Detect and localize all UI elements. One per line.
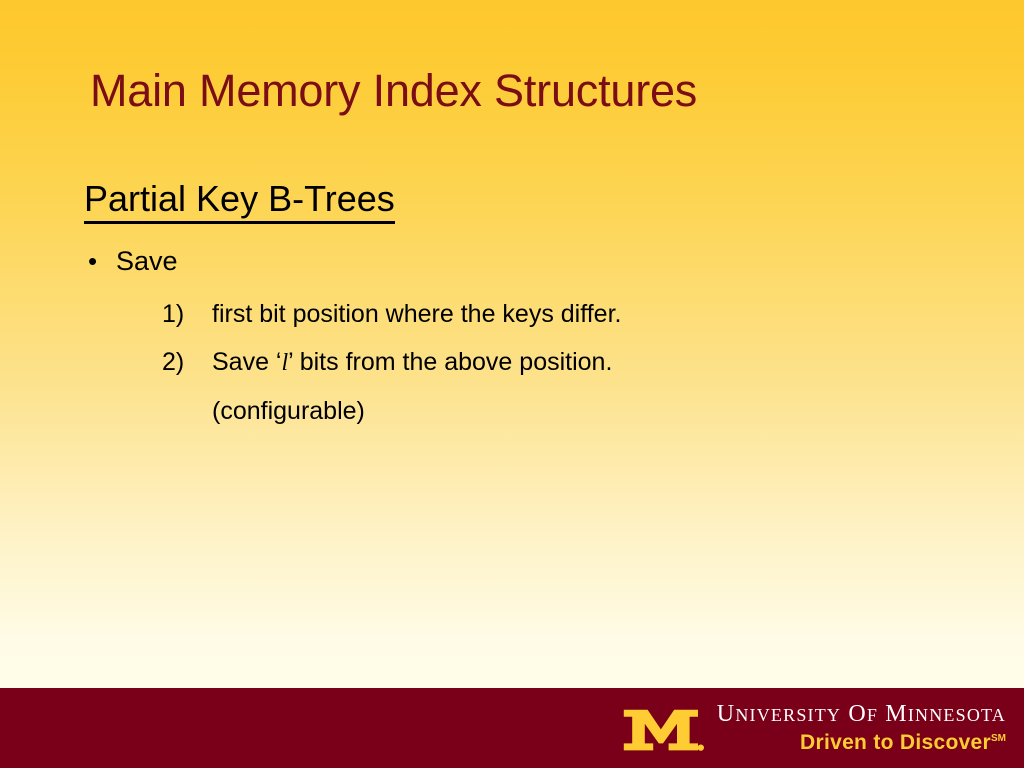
block-m-icon [621, 700, 705, 756]
university-of-text: O [848, 701, 867, 727]
state-name-text: M [885, 701, 908, 727]
list-item: 2) Save ‘l’ bits from the above position… [162, 342, 964, 383]
numbered-list: 1) first bit position where the keys dif… [162, 294, 964, 431]
list-item-text: first bit position where the keys differ… [212, 294, 621, 334]
university-logo: UNIVERSITY OF MINNESOTA Driven to Discov… [621, 696, 1006, 760]
list-item-continuation: (configurable) [212, 391, 964, 431]
university-of-text-rest: F [867, 705, 878, 725]
slide-body: Partial Key B-Trees • Save 1) first bit … [84, 178, 964, 431]
list-number: 2) [162, 342, 212, 382]
section-heading: Partial Key B-Trees [84, 178, 395, 224]
university-name-text-rest: NIVERSITY [735, 705, 841, 725]
logo-tagline-text: Driven to Discover [800, 731, 991, 754]
state-name-text-rest: INNESOTA [908, 705, 1006, 725]
bullet-icon: • [88, 244, 116, 278]
slide: Main Memory Index Structures Partial Key… [0, 0, 1024, 768]
list-item-text: Save ‘l’ bits from the above position. [212, 342, 612, 383]
list-item: • Save [88, 244, 964, 278]
bullet-label: Save [116, 244, 178, 278]
university-name-text: U [717, 701, 736, 727]
logo-wordmark: UNIVERSITY OF MINNESOTA Driven to Discov… [717, 702, 1006, 753]
footer-bar: UNIVERSITY OF MINNESOTA Driven to Discov… [0, 688, 1024, 768]
service-mark-icon: SM [991, 733, 1006, 744]
logo-tagline: Driven to DiscoverSM [717, 732, 1006, 754]
page-title: Main Memory Index Structures [90, 66, 950, 116]
list-item-text-lead: first bit position where the keys differ… [212, 300, 621, 328]
university-name: UNIVERSITY OF MINNESOTA [717, 702, 1006, 727]
list-item-text-tail: ’ bits from the above position. [288, 348, 612, 376]
list-item-text-lead: Save ‘ [212, 348, 281, 376]
list-item: 1) first bit position where the keys dif… [162, 294, 964, 334]
list-number: 1) [162, 294, 212, 334]
